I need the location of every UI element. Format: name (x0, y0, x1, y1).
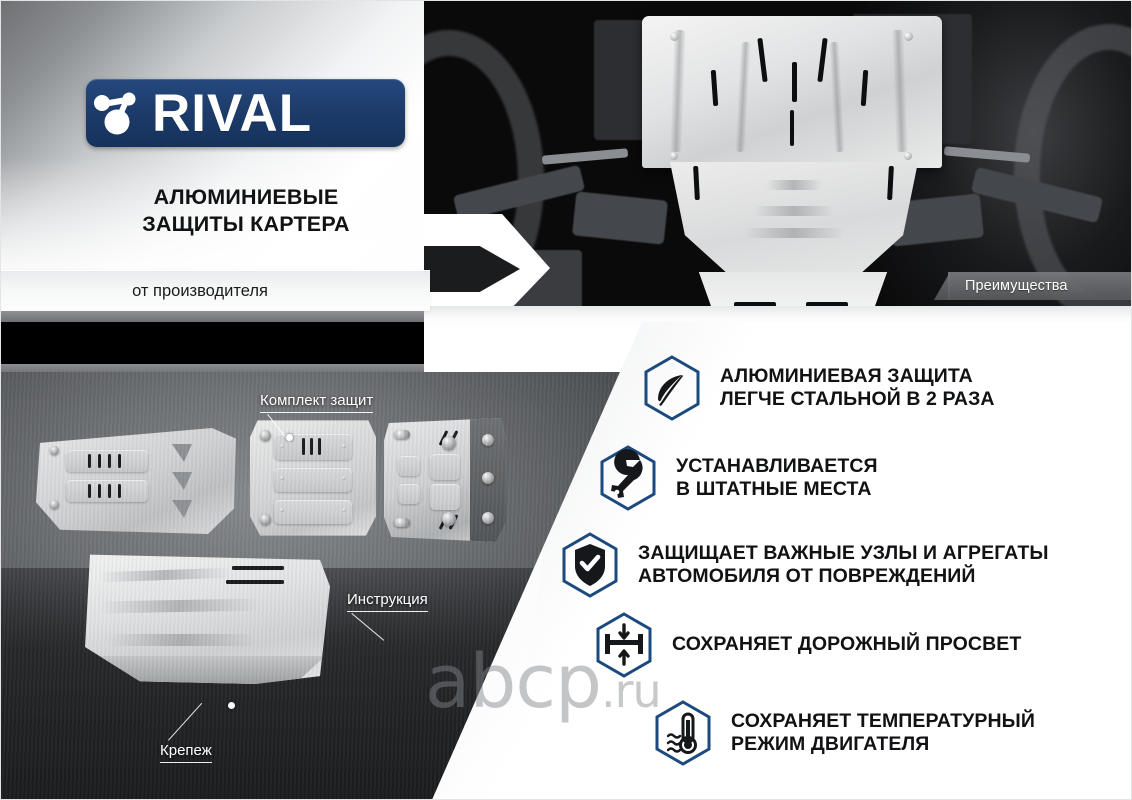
manufacturer-label: от производителя (132, 282, 298, 301)
callout-kit: Комплект защит (260, 392, 373, 409)
divider-black (0, 322, 424, 364)
benefit-item-1: АЛЮМИНИЕВАЯ ЗАЩИТА ЛЕГЧЕ СТАЛЬНОЙ В 2 РА… (642, 355, 995, 421)
skid-plate-a (36, 428, 236, 534)
callout-fasteners: Крепеж (160, 742, 212, 759)
callout-manual: Инструкция (347, 591, 428, 608)
benefit-label-5: СОХРАНЯЕТ ТЕМПЕРАТУРНЫЙ РЕЖИМ ДВИГАТЕЛЯ (731, 710, 1035, 757)
benefit-item-3: ЗАЩИЩАЕТ ВАЖНЫЕ УЗЛЫ И АГРЕГАТЫ АВТОМОБИ… (560, 532, 1049, 598)
manufacturer-bar: от производителя (0, 270, 430, 311)
advantages-label: Преимущества (948, 278, 1068, 294)
benefit-label-1: АЛЮМИНИЕВАЯ ЗАЩИТА ЛЕГЧЕ СТАЛЬНОЙ В 2 РА… (720, 365, 995, 412)
skid-plate-c (384, 418, 506, 542)
skid-plate-d (80, 552, 330, 684)
clearance-arrows-icon (594, 612, 654, 678)
thermometer-icon (653, 700, 713, 766)
callout-kit-dot (286, 434, 293, 441)
benefit-item-5: СОХРАНЯЕТ ТЕМПЕРАТУРНЫЙ РЕЖИМ ДВИГАТЕЛЯ (653, 700, 1035, 766)
shield-check-icon (560, 532, 620, 598)
headline-line-2: ЗАЩИТЫ КАРТЕРА (86, 211, 406, 238)
poster-canvas: Преимущества RIVAL АЛЮМИНИЕВЫЕ ЗАЩИТЫ КА… (0, 0, 1132, 800)
rival-wordmark: RIVAL (152, 87, 312, 140)
leaf-icon (642, 355, 702, 421)
skid-plate-photo (642, 16, 942, 168)
benefit-label-3: ЗАЩИЩАЕТ ВАЖНЫЕ УЗЛЫ И АГРЕГАТЫ АВТОМОБИ… (638, 542, 1049, 589)
brand-panel-background (0, 0, 470, 312)
benefit-item-4: СОХРАНЯЕТ ДОРОЖНЫЙ ПРОСВЕТ (594, 612, 1021, 678)
benefit-label-2: УСТАНАВЛИВАЕТСЯ В ШТАТНЫЕ МЕСТА (676, 455, 878, 502)
callout-fasteners-dot (228, 702, 235, 709)
advantages-tab: Преимущества (948, 272, 1132, 300)
skid-plate-b (250, 418, 376, 538)
benefit-item-2: УСТАНАВЛИВАЕТСЯ В ШТАТНЫЕ МЕСТА (598, 445, 878, 511)
page-title: АЛЮМИНИЕВЫЕ ЗАЩИТЫ КАРТЕРА (86, 184, 406, 237)
wrench-icon (598, 445, 658, 511)
rival-logo: RIVAL (86, 79, 405, 147)
headline-line-1: АЛЮМИНИЕВЫЕ (86, 184, 406, 211)
molecule-icon (86, 79, 156, 147)
divider-grey-top (0, 311, 424, 322)
benefit-label-4: СОХРАНЯЕТ ДОРОЖНЫЙ ПРОСВЕТ (672, 633, 1021, 656)
